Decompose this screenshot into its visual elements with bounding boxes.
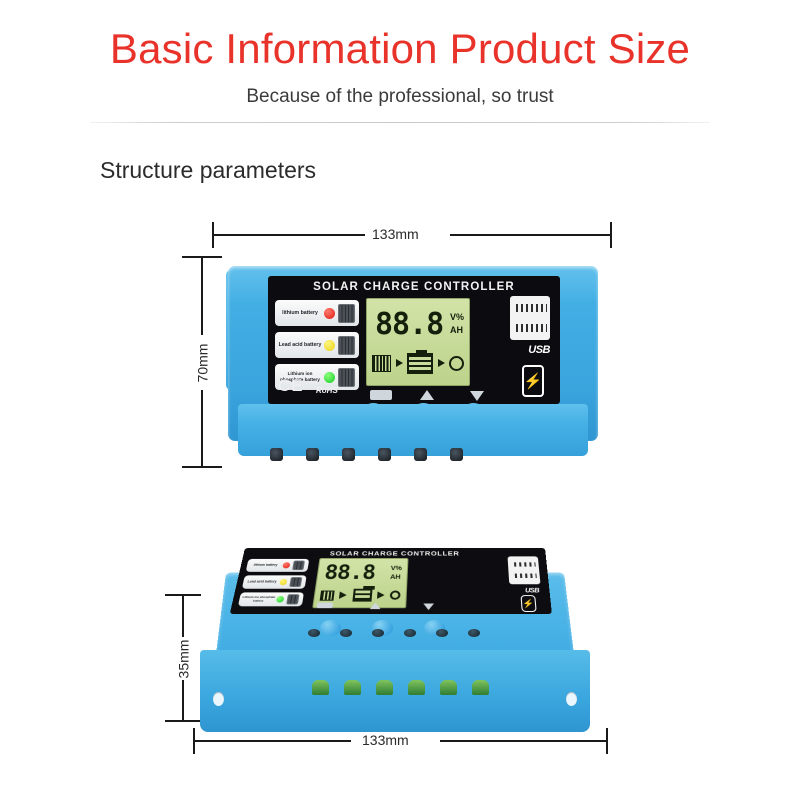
green-terminal [344,680,361,695]
solar-panel-icon [372,355,391,372]
solar-chip-icon [292,561,305,570]
dim2-width-label: 133mm [358,732,413,748]
solar-chip-icon [338,368,355,387]
battery-type-lead-acid: Lead acid battery [275,332,359,358]
terminal-screw [342,448,355,461]
controller-faceplate: SOLAR CHARGE CONTROLLER lithium battery … [268,276,560,404]
usb-port [512,571,538,581]
menu-button-angled[interactable] [320,620,341,636]
terminal-screw [306,448,319,461]
triangle-up-icon [420,390,434,400]
screw-hole [213,692,224,706]
terminal-screw-top [436,629,448,637]
terminal-screw-top [468,629,480,637]
page-header: Basic Information Product Size Because o… [0,0,800,123]
brand-label-angled: SOLAR CHARGE CONTROLLER [243,550,546,558]
brand-label: SOLAR CHARGE CONTROLLER [268,281,560,293]
battery-type-label: Lead acid battery [243,580,279,584]
usb-label: USB [528,344,550,356]
lcd-digits-angled: 88.8 [323,562,376,584]
arrow-right-icon [339,591,347,598]
dim2-height-label: 35mm [175,640,191,679]
lcd-unit-bottom: AH [390,574,402,583]
usb-label-angled: USB [525,588,539,594]
usb-ports-angled [508,556,541,584]
dim-width-label: 133mm [368,226,423,242]
solar-chip-icon [338,336,355,355]
figure-angled-view: 35mm SOLAR CHARGE CONTROLLER lithium bat… [0,520,800,790]
battery-type-label: lithium battery [275,310,323,317]
solar-panel-icon [320,590,335,600]
led-yellow-icon [324,340,335,351]
battery-type-label: lithium battery [247,563,282,567]
controller-terminal-lip [238,404,588,456]
lightning-bolt-icon: ⚡ [522,599,535,607]
terminal-screw [414,448,427,461]
lcd-unit-top: V% [390,565,402,574]
dim-height-label: 70mm [194,344,210,383]
rohs-mark-icon: RoHS [316,386,338,395]
dim-width-bar-left [213,234,365,236]
battery-menu-icon [370,390,392,400]
dim2-height-bar-top [182,595,184,637]
triangle-down-light-icon-angled [423,603,434,610]
usb-port [513,300,547,316]
battery-menu-icon-angled [316,603,333,609]
battery-type-label: Lithium ion phosphate battery [239,596,276,603]
dim2-height-label-wrap: 35mm [162,635,204,683]
terminal-screw-top [372,629,384,637]
dim-height-bar-top [201,257,203,335]
section-title: Structure parameters [100,157,800,184]
lamp-icon [449,356,464,371]
dim2-width-bar-left [194,740,351,742]
page-title: Basic Information Product Size [0,26,800,72]
terminal-screw-top [404,629,416,637]
triangle-up-icon-angled [370,603,381,610]
led-red-icon [324,308,335,319]
arrow-right-icon [438,359,445,367]
lcd-unit-top: V% [450,311,464,324]
lamp-icon [390,591,401,600]
controller-faceplate-angled: SOLAR CHARGE CONTROLLER lithium battery … [230,548,552,614]
battery-type-label: Lead acid battery [275,342,323,349]
led-yellow-icon [279,579,287,585]
lcd-units-angled: V% AH [390,565,402,583]
arrow-right-icon [377,591,385,598]
green-terminal [472,680,489,695]
led-red-icon [282,562,290,568]
lcd-digits: 88.8 [375,307,443,342]
lcd-display-angled: 88.8 V% AH [312,558,408,608]
green-terminal [408,680,425,695]
solar-chip-icon [289,577,302,587]
terminal-screw-top [340,629,352,637]
green-terminal [440,680,457,695]
page-subtitle: Because of the professional, so trust [0,86,800,108]
dim-height-bar-bottom [201,390,203,468]
lcd-flow-icons-angled [319,587,401,604]
phone-charging-icon: ⚡ [522,365,544,397]
battery-icon [407,353,433,374]
figure-front-view: 133mm 70mm SOLAR CHARGE CONTROLLER lithi… [0,218,800,508]
battery-type-lithium-angled: lithium battery [246,559,310,572]
usb-port [511,560,536,569]
terminal-screw-top [308,629,320,637]
terminal-screw [450,448,463,461]
battery-type-lead-acid-angled: Lead acid battery [242,575,307,588]
led-green-icon [324,372,335,383]
lightning-bolt-icon: ⚡ [524,374,543,389]
screw-hole [566,692,577,706]
usb-port [513,320,547,336]
lcd-unit-bottom: AH [450,324,464,337]
dim-height-label-wrap: 70mm [181,338,223,388]
dim2-width-bar-right [440,740,607,742]
ce-mark-icon: CE [278,376,304,396]
terminal-screw [378,448,391,461]
battery-type-lithium: lithium battery [275,300,359,326]
solar-chip-icon [338,304,355,323]
lcd-display: 88.8 V% AH [366,298,470,386]
battery-icon [352,589,372,602]
green-terminal [312,680,329,695]
lcd-units: V% AH [450,311,464,337]
dim2-height-bar-bottom [182,680,184,721]
triangle-down-light-icon [470,391,484,401]
terminal-screw [270,448,283,461]
controller-front-face-angled [200,650,590,732]
lcd-flow-icons [372,348,464,378]
led-green-icon [276,596,285,602]
arrow-right-icon [396,359,403,367]
header-divider [90,122,710,123]
phone-charging-icon-angled: ⚡ [520,595,536,612]
dim-width-bar-right [450,234,611,236]
usb-ports [510,296,550,340]
battery-type-lifepo4-angled: Lithium ion phosphate battery [238,592,304,606]
solar-chip-icon [286,594,299,604]
green-terminal [376,680,393,695]
